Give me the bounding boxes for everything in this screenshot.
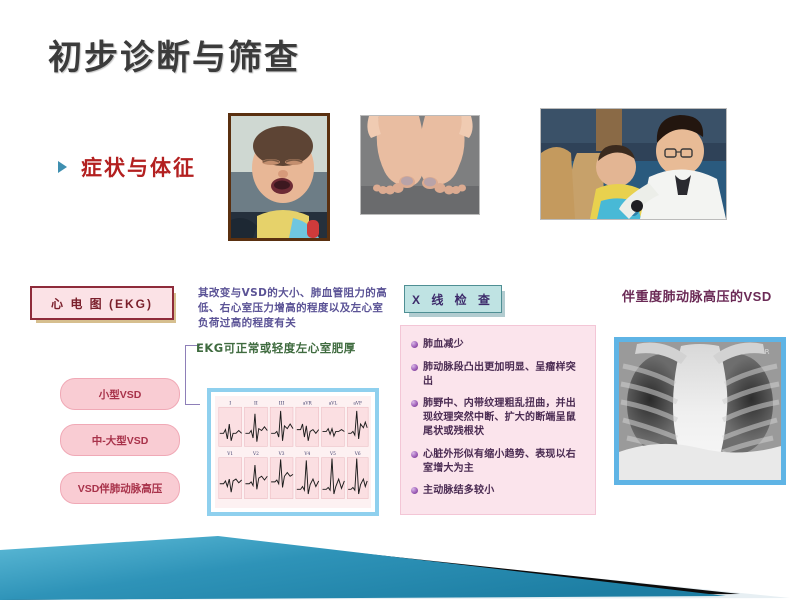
ekg-note-text: 其改变与VSD的大小、肺血管阻力的高低、右心室压力增高的程度以及左心室负荷过高的… [198, 286, 388, 331]
vsd-category-label: 小型VSD [99, 387, 142, 402]
list-item: 肺血减少 [411, 338, 585, 352]
bullet-sphere-icon [411, 341, 418, 348]
bullet-sphere-icon [411, 487, 418, 494]
xray-findings-panel: 肺血减少 肺动脉段凸出更加明显、呈瘤样突出 肺野中、内带纹理粗乱扭曲，并出现纹理… [400, 325, 596, 515]
svg-text:aVF: aVF [353, 400, 362, 405]
svg-text:aVL: aVL [329, 400, 338, 405]
ekg-header-label: 心 电 图 (EKG) [51, 295, 153, 312]
bullet-sphere-icon [411, 400, 418, 407]
svg-text:I: I [229, 400, 231, 406]
ekg-section-header: 心 电 图 (EKG) [30, 286, 174, 320]
svg-text:V5: V5 [329, 451, 336, 456]
vsd-category-pulmonary-hypertension[interactable]: VSD伴肺动脉高压 [60, 472, 180, 504]
triangle-right-icon [58, 161, 67, 173]
svg-text:V3: V3 [278, 451, 285, 456]
svg-text:V2: V2 [252, 451, 259, 456]
xray-section-header: X 线 检 查 [404, 285, 502, 313]
xray-finding-label: 肺血减少 [423, 338, 464, 352]
feet-clubbing-photo [360, 115, 480, 215]
list-item: 心脏外形似有缩小趋势、表现以右室增大为主 [411, 448, 585, 476]
xray-finding-label: 肺动脉段凸出更加明显、呈瘤样突出 [423, 361, 585, 389]
ekg-finding-text: EKG可正常或轻度左心室肥厚 [196, 340, 356, 356]
svg-text:V6: V6 [354, 451, 361, 456]
svg-text:V4: V4 [303, 451, 310, 456]
list-item: 肺野中、内带纹理粗乱扭曲，并出现纹理突然中断、扩大的断端呈鼠尾状或残根状 [411, 397, 585, 438]
symptoms-bullet-row: 症状与体征 [58, 152, 196, 182]
list-item: 肺动脉段凸出更加明显、呈瘤样突出 [411, 361, 585, 389]
xray-finding-label: 心脏外形似有缩小趋势、表现以右室增大为主 [423, 448, 585, 476]
presentation-slide: 初步诊断与筛查 症状与体征 [0, 0, 800, 600]
xray-finding-label: 肺野中、内带纹理粗乱扭曲，并出现纹理突然中断、扩大的断端呈鼠尾状或残根状 [423, 397, 585, 438]
xray-header-box: X 线 检 查 [404, 285, 502, 313]
chest-xray-image: R [614, 337, 786, 485]
xray-header-label: X 线 检 查 [412, 291, 494, 308]
svg-text:aVR: aVR [303, 400, 313, 405]
vsd-category-label: 中-大型VSD [92, 433, 149, 448]
bullet-sphere-icon [411, 451, 418, 458]
infant-face-photo [228, 113, 330, 241]
svg-text:II: II [254, 400, 258, 406]
slide-footer-decoration [0, 510, 800, 600]
vsd-category-medium-large[interactable]: 中-大型VSD [60, 424, 180, 456]
bullet-sphere-icon [411, 364, 418, 371]
svg-text:III: III [279, 400, 285, 406]
list-item: 主动脉结多较小 [411, 484, 585, 498]
vsd-category-label: VSD伴肺动脉高压 [78, 481, 163, 496]
svg-text:V1: V1 [226, 451, 233, 456]
svg-text:R: R [765, 348, 770, 356]
twelve-lead-ekg-image: I II III aVR [207, 388, 379, 516]
doctor-examining-child-photo [540, 108, 727, 220]
vsd-category-small[interactable]: 小型VSD [60, 378, 180, 410]
ekg-header-box: 心 电 图 (EKG) [30, 286, 174, 320]
symptoms-bullet-label: 症状与体征 [81, 152, 196, 182]
xray-finding-label: 主动脉结多较小 [423, 484, 494, 498]
page-title: 初步诊断与筛查 [48, 30, 300, 79]
xray-image-caption: 伴重度肺动脉高压的VSD [622, 286, 772, 305]
